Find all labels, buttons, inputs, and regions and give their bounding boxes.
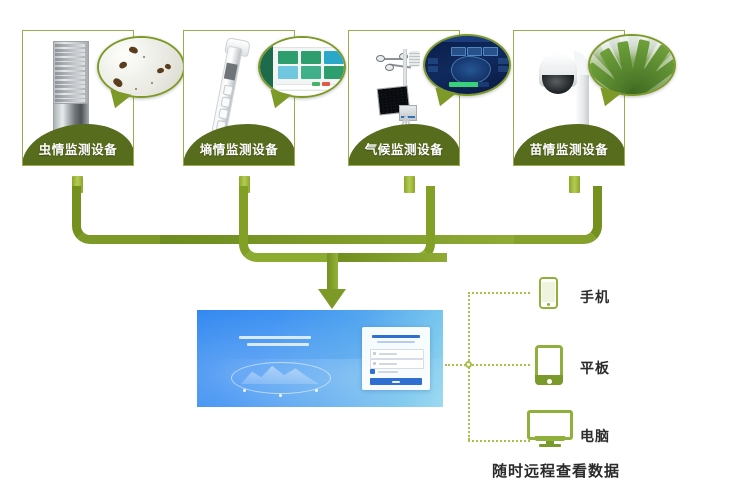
login-card[interactable] (362, 327, 430, 390)
remember-me-checkbox[interactable] (370, 369, 375, 374)
greenhouse-interior-bubble (588, 34, 676, 96)
diagram-canvas: 虫情监测设备 (0, 0, 750, 500)
probe-shaft (211, 46, 243, 135)
phone-icon[interactable] (539, 277, 558, 309)
client-label-desktop: 电脑 (580, 426, 610, 446)
down-arrow-icon (318, 289, 346, 309)
cloud-platform-login-screenshot[interactable] (197, 310, 443, 407)
bracket-junction-node (465, 361, 472, 368)
remember-me-label (378, 371, 398, 373)
client-label-tablet: 平板 (580, 358, 610, 378)
monitor-icon[interactable] (527, 410, 573, 444)
device-card-label: 苗情监测设备 (516, 138, 622, 158)
hero-headline-text (239, 336, 313, 350)
username-input[interactable] (370, 349, 424, 359)
remote-access-caption: 随时远程查看数据 (492, 460, 620, 481)
device-card-label: 墒情监测设备 (186, 138, 292, 158)
insect-specimen-image (99, 38, 183, 96)
login-button[interactable] (370, 378, 422, 385)
climate-dashboard-image (425, 36, 509, 94)
client-label-phone: 手机 (580, 287, 610, 307)
device-card-label: 气候监测设备 (351, 138, 457, 158)
login-card-title (372, 335, 420, 338)
tablet-icon[interactable] (535, 345, 563, 385)
password-input[interactable] (370, 359, 424, 369)
device-card-label: 虫情监测设备 (25, 138, 131, 158)
login-card-subtitle (377, 341, 415, 343)
climate-map-dashboard-bubble (423, 34, 511, 96)
greenhouse-image (590, 36, 674, 94)
soil-data-dashboard-bubble (258, 36, 346, 98)
trap-slats (55, 44, 85, 104)
radiation-shield (409, 51, 420, 67)
camera-lens (542, 75, 574, 94)
soil-dashboard-image (260, 38, 344, 96)
